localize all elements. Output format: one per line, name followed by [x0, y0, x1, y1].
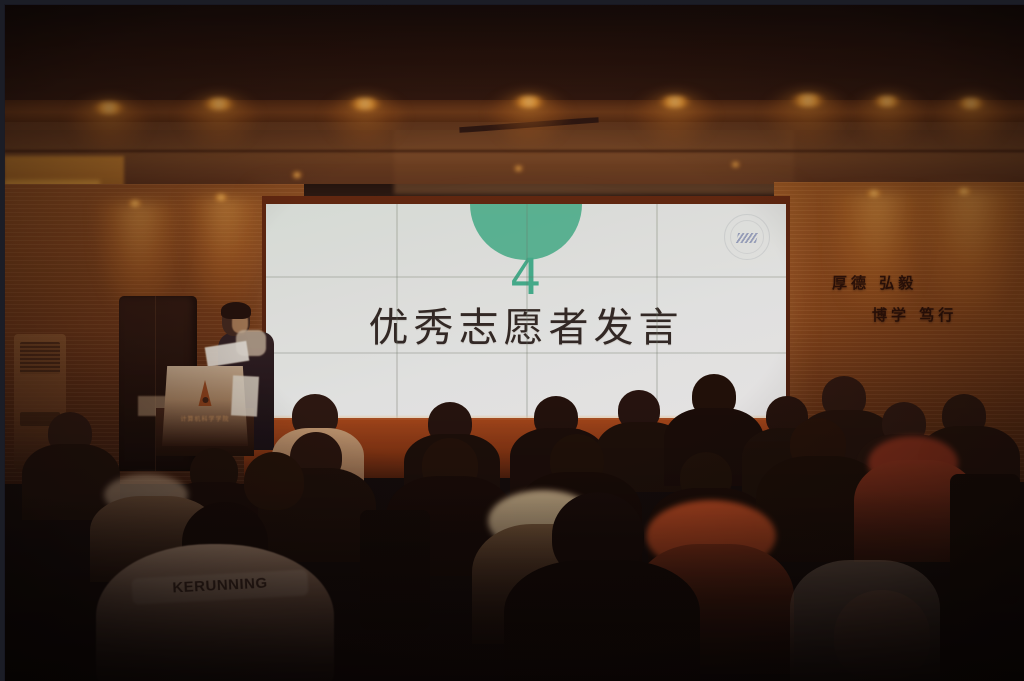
- audience-shoulders: [504, 560, 700, 681]
- speaker-hair: [221, 302, 251, 319]
- audience-head: [244, 452, 304, 510]
- panel-bezel-vertical: [526, 204, 528, 420]
- chair-back: [360, 510, 430, 630]
- ceiling-dark-slab: [4, 4, 1024, 109]
- panel-bezel-horizontal: [266, 352, 786, 354]
- ceiling-edge-line: [4, 150, 1024, 152]
- ac-grille: [20, 342, 60, 374]
- wall-motto-line-1: 厚德 弘毅: [832, 272, 917, 293]
- logo-wave-mark: [736, 233, 758, 243]
- podium-paper-sheet: [231, 375, 259, 416]
- panel-bezel-vertical: [656, 204, 658, 420]
- wall-motto-line-2: 博学 笃行: [872, 304, 957, 325]
- podium-emblem: [199, 380, 212, 406]
- panel-bezel-vertical: [396, 204, 398, 420]
- panel-bezel-horizontal: [266, 276, 786, 278]
- university-seal-logo: [724, 214, 770, 260]
- chair-back: [950, 474, 1020, 604]
- audience-jacket: [96, 544, 334, 681]
- ceiling-lower-panel: [4, 122, 1024, 184]
- auditorium-scene: 厚德 弘毅 博学 笃行 4 优秀志愿者发言: [0, 0, 1024, 681]
- audience-shoulders: [790, 560, 940, 680]
